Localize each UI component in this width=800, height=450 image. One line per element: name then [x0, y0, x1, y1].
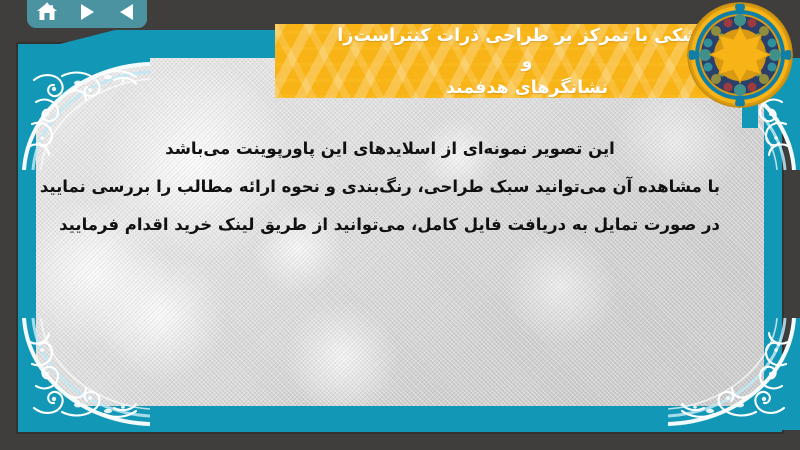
navigation-bar	[27, 0, 147, 28]
slide-title-banner: مروری بر نقش فناوری نانو در تصویربرداری …	[275, 24, 745, 98]
slide-title: مروری بر نقش فناوری نانو در تصویربرداری …	[275, 24, 745, 98]
forward-button[interactable]	[72, 0, 102, 24]
slide-body-line-3: در صورت تمایل به دریافت فایل کامل، می‌تو…	[60, 206, 720, 244]
slide-stage: مروری بر نقش فناوری نانو در تصویربرداری …	[0, 0, 800, 450]
slide-body-line-2: با مشاهده آن می‌توانید سبک طراحی، رنگ‌بن…	[60, 168, 720, 206]
triangle-right-icon	[77, 3, 97, 21]
triangle-left-icon	[117, 3, 137, 21]
slide-body-line-1: این تصویر نمونه‌ای از اسلایدهای این پاور…	[60, 130, 720, 168]
home-button[interactable]	[32, 0, 62, 24]
banner-lead-accent	[60, 30, 310, 44]
slide-body-text: این تصویر نمونه‌ای از اسلایدهای این پاور…	[60, 130, 720, 244]
home-icon	[36, 2, 58, 22]
back-button[interactable]	[112, 0, 142, 24]
